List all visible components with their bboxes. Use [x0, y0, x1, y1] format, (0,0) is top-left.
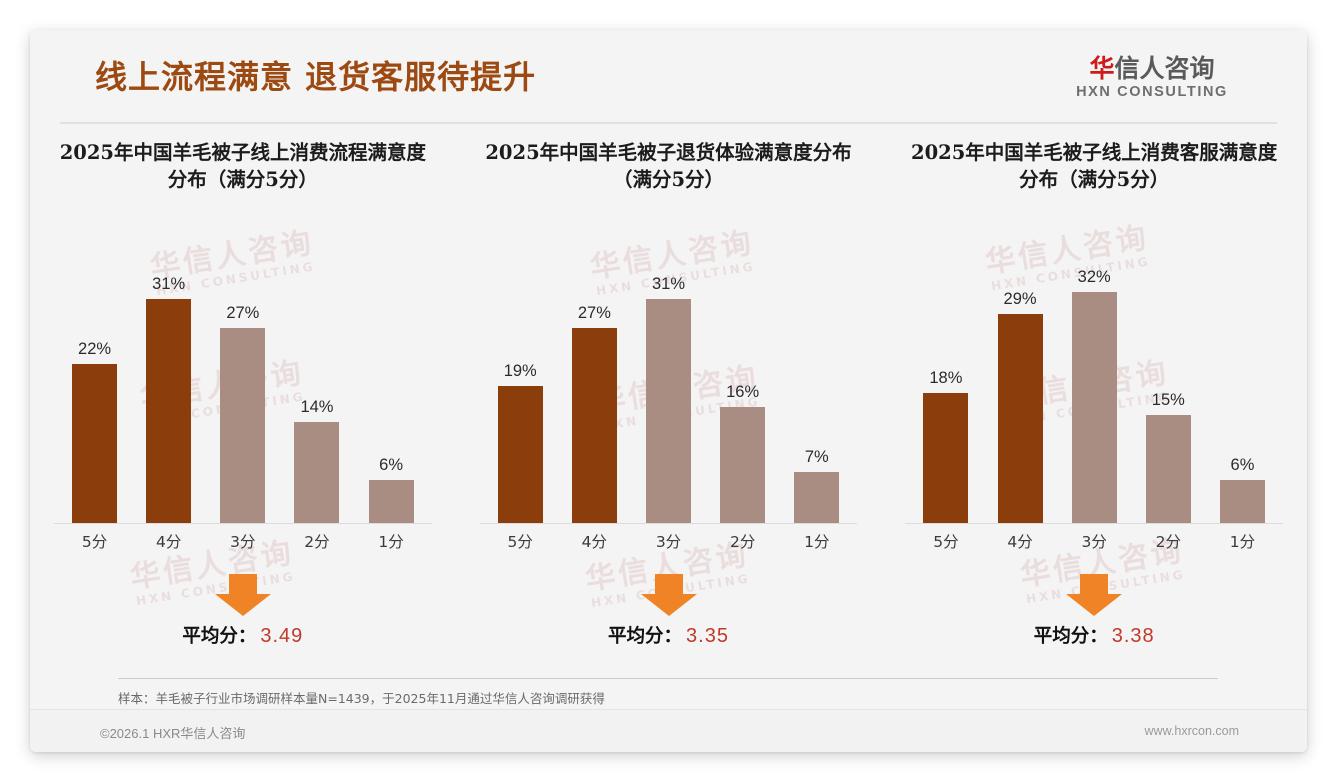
bar-value-label: 6% [379, 456, 403, 475]
bar-slot[interactable]: 7% 1分 [784, 263, 849, 523]
website-link[interactable]: www.hxrcon.com [1145, 724, 1239, 738]
bar-slot[interactable]: 15% 2分 [1136, 263, 1201, 523]
bar[interactable] [146, 299, 191, 523]
bar-slot[interactable]: 31% 4分 [136, 263, 201, 523]
bar-category-label: 5分 [62, 530, 127, 552]
bars-group: 19% 5分 27% 4分 31% 3分 16 [488, 263, 850, 523]
bar[interactable] [72, 364, 117, 523]
bar-value-label: 6% [1231, 456, 1255, 475]
bar[interactable] [1146, 415, 1191, 523]
bar-value-label: 19% [504, 362, 537, 381]
bar-category-label: 3分 [636, 530, 701, 552]
average-score-line: 平均分：3.35 [470, 622, 868, 648]
average-value: 3.49 [260, 625, 303, 647]
bar-category-label: 3分 [210, 530, 275, 552]
header-divider [60, 122, 1277, 124]
bar-value-label: 31% [652, 275, 685, 294]
logo-chinese-text: 华信人咨询 [1057, 56, 1247, 82]
bar-category-label: 4分 [562, 530, 627, 552]
down-arrow-icon [641, 574, 697, 616]
bar-value-label: 7% [805, 448, 829, 467]
bar-slot[interactable]: 19% 5分 [488, 263, 553, 523]
bar[interactable] [498, 386, 543, 523]
bar[interactable] [720, 407, 765, 523]
bar[interactable] [369, 480, 414, 523]
bar[interactable] [572, 328, 617, 523]
bar-slot[interactable]: 6% 1分 [359, 263, 424, 523]
average-score-line: 平均分：3.38 [895, 622, 1293, 648]
average-label: 平均分： [1034, 626, 1108, 647]
average-score-line: 平均分：3.49 [44, 622, 442, 648]
bar-value-label: 29% [1004, 290, 1037, 309]
bar-slot[interactable]: 29% 4分 [987, 263, 1052, 523]
bar-slot[interactable]: 22% 5分 [62, 263, 127, 523]
bar-value-label: 18% [929, 369, 962, 388]
bar-category-label: 1分 [1210, 530, 1275, 552]
bar-category-label: 2分 [1136, 530, 1201, 552]
bar[interactable] [1072, 292, 1117, 523]
bar-slot[interactable]: 27% 4分 [562, 263, 627, 523]
logo-rest-chars: 信人咨询 [1115, 54, 1215, 83]
average-value: 3.38 [1112, 625, 1155, 647]
bar-value-label: 22% [78, 340, 111, 359]
down-arrow-icon [1066, 574, 1122, 616]
average-label: 平均分： [182, 626, 256, 647]
slide-footer: ©2026.1 HXR华信人咨询 www.hxrcon.com [30, 709, 1307, 752]
bar-category-label: 2分 [284, 530, 349, 552]
bar-value-label: 27% [226, 304, 259, 323]
bar[interactable] [998, 314, 1043, 523]
bar-chart-plot: 22% 5分 31% 4分 27% 3分 14 [44, 246, 442, 556]
logo-accent-char: 华 [1089, 54, 1114, 83]
bars-group: 22% 5分 31% 4分 27% 3分 14 [62, 263, 424, 523]
bar-category-label: 1分 [784, 530, 849, 552]
chart-panel-2: 2025年中国羊毛被子退货体验满意度分布（满分5分） 19% 5分 27% 4分 [456, 140, 882, 660]
bar-slot[interactable]: 27% 3分 [210, 263, 275, 523]
x-axis-line [905, 523, 1283, 524]
slide-canvas: 线上流程满意 退货客服待提升 华信人咨询 HXN CONSULTING 华信人咨… [30, 30, 1307, 752]
bar-value-label: 31% [152, 275, 185, 294]
bar[interactable] [1220, 480, 1265, 523]
chart-title: 2025年中国羊毛被子线上消费流程满意度分布（满分5分） [44, 140, 442, 198]
bar-chart-plot: 18% 5分 29% 4分 32% 3分 15 [895, 246, 1293, 556]
average-block: 平均分：3.35 [470, 574, 868, 648]
company-logo: 华信人咨询 HXN CONSULTING [1057, 56, 1247, 100]
copyright-text: ©2026.1 HXR华信人咨询 [100, 723, 245, 742]
average-block: 平均分：3.38 [895, 574, 1293, 648]
bar-category-label: 4分 [136, 530, 201, 552]
bar-value-label: 27% [578, 304, 611, 323]
bar-value-label: 15% [1152, 391, 1185, 410]
bar[interactable] [220, 328, 265, 523]
bar-category-label: 5分 [488, 530, 553, 552]
bar-category-label: 4分 [987, 530, 1052, 552]
chart-panel-3: 2025年中国羊毛被子线上消费客服满意度分布（满分5分） 18% 5分 29% … [881, 140, 1307, 660]
average-label: 平均分： [608, 626, 682, 647]
bar-value-label: 32% [1078, 268, 1111, 287]
bar-chart-plot: 19% 5分 27% 4分 31% 3分 16 [470, 246, 868, 556]
down-arrow-icon [215, 574, 271, 616]
page-title: 线上流程满意 退货客服待提升 [95, 52, 536, 98]
bar[interactable] [294, 422, 339, 523]
chart-title: 2025年中国羊毛被子线上消费客服满意度分布（满分5分） [895, 140, 1293, 198]
bar-category-label: 3分 [1062, 530, 1127, 552]
bar-slot[interactable]: 14% 2分 [284, 263, 349, 523]
bar[interactable] [646, 299, 691, 523]
x-axis-line [54, 523, 432, 524]
x-axis-line [480, 523, 858, 524]
bars-group: 18% 5分 29% 4分 32% 3分 15 [913, 263, 1275, 523]
bar-slot[interactable]: 16% 2分 [710, 263, 775, 523]
bar-slot[interactable]: 31% 3分 [636, 263, 701, 523]
slide-header: 线上流程满意 退货客服待提升 华信人咨询 HXN CONSULTING [30, 30, 1307, 122]
charts-row: 2025年中国羊毛被子线上消费流程满意度分布（满分5分） 22% 5分 31% … [30, 140, 1307, 660]
footnote-divider [118, 678, 1218, 679]
chart-title: 2025年中国羊毛被子退货体验满意度分布（满分5分） [470, 140, 868, 198]
bar-slot[interactable]: 18% 5分 [913, 263, 978, 523]
bar-slot[interactable]: 32% 3分 [1062, 263, 1127, 523]
bar[interactable] [794, 472, 839, 523]
chart-panel-1: 2025年中国羊毛被子线上消费流程满意度分布（满分5分） 22% 5分 31% … [30, 140, 456, 660]
logo-english-text: HXN CONSULTING [1057, 84, 1247, 100]
bar-slot[interactable]: 6% 1分 [1210, 263, 1275, 523]
bar-value-label: 16% [726, 383, 759, 402]
bar[interactable] [923, 393, 968, 523]
bar-category-label: 2分 [710, 530, 775, 552]
average-value: 3.35 [686, 625, 729, 647]
average-block: 平均分：3.49 [44, 574, 442, 648]
bar-category-label: 5分 [913, 530, 978, 552]
bar-category-label: 1分 [359, 530, 424, 552]
footnote-text: 样本：羊毛被子行业市场调研样本量N=1439，于2025年11月通过华信人咨询调… [118, 688, 605, 707]
bar-value-label: 14% [300, 398, 333, 417]
